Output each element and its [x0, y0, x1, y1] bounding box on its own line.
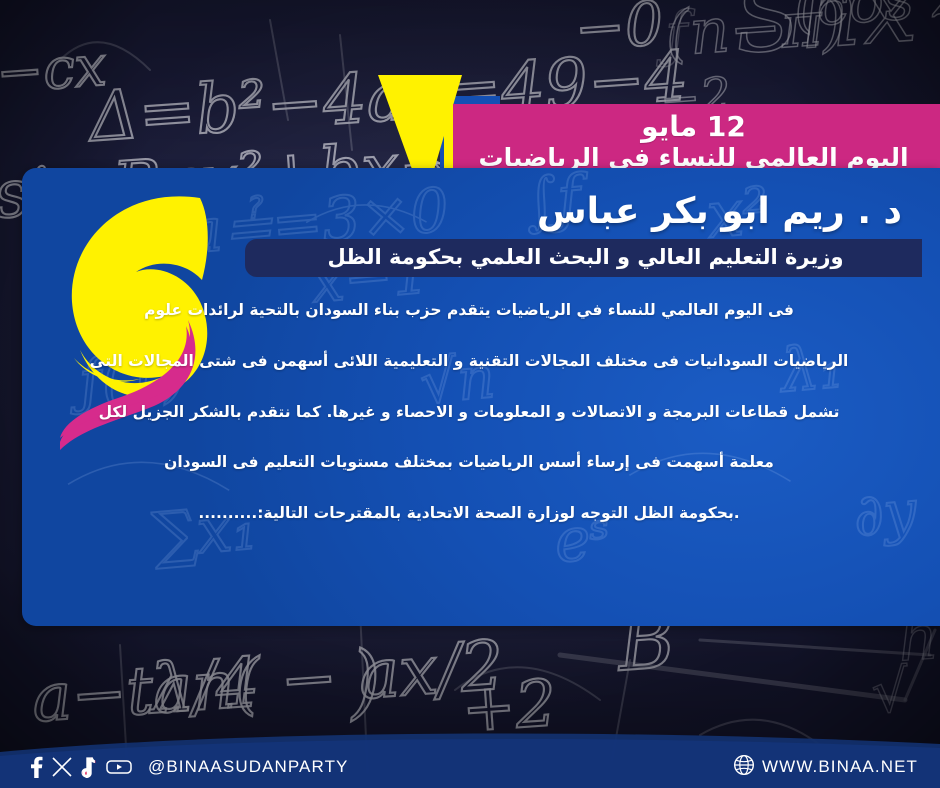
speaker-name: د . ريم ابو بكر عباس — [22, 178, 922, 232]
card-content: د . ريم ابو بكر عباس وزيرة التعليم العال… — [22, 168, 940, 626]
globe-icon — [733, 754, 755, 780]
statement-line-3: تشمل قطاعات البرمجة و الاتصالات و المعلو… — [30, 403, 908, 422]
footer-content: @BINAASUDANPARTY WWW.BINAA.NET — [0, 748, 940, 788]
speaker-role-pill: وزيرة التعليم العالي و البحث العلمي بحكو… — [245, 239, 922, 277]
poster-canvas: −cx Δ=b²−4ac=49−4 −0 (n−π) (cos z)² −2 ƒ… — [0, 0, 940, 788]
social-handle[interactable]: @BINAASUDANPARTY — [148, 757, 349, 777]
footer-bar: @BINAASUDANPARTY WWW.BINAA.NET — [0, 726, 940, 788]
statement-line-1: فى اليوم العالمي للنساء في الرياضيات يتق… — [30, 301, 908, 320]
youtube-icon[interactable] — [106, 758, 132, 776]
speaker-role: وزيرة التعليم العالي و البحث العلمي بحكو… — [271, 245, 900, 269]
event-title: اليوم العالمي للنساء في الرياضيات — [478, 145, 908, 171]
statement-line-2: الرياضيات السودانيات فى مختلف المجالات ا… — [30, 352, 908, 371]
statement-paragraph: فى اليوم العالمي للنساء في الرياضيات يتق… — [30, 301, 908, 522]
statement-line-5: .بحكومة الظل التوجه لوزارة الصحة الاتحاد… — [30, 504, 908, 523]
social-links[interactable]: @BINAASUDANPARTY — [30, 756, 349, 778]
website-link[interactable]: WWW.BINAA.NET — [733, 754, 918, 780]
x-twitter-icon[interactable] — [52, 757, 72, 777]
statement-card: a≟=3×0 x−1 ∫ƒ x² ƒ(1) √n λ₁ ∑x₁ eˢ ∂y — [22, 168, 940, 626]
website-text[interactable]: WWW.BINAA.NET — [762, 757, 918, 777]
event-date: 12 مايو — [641, 112, 746, 141]
statement-line-4: معلمة أسهمت فى إرساء أسس الرياضيات بمختل… — [30, 453, 908, 472]
facebook-icon[interactable] — [30, 756, 43, 778]
tiktok-icon[interactable] — [81, 756, 97, 778]
